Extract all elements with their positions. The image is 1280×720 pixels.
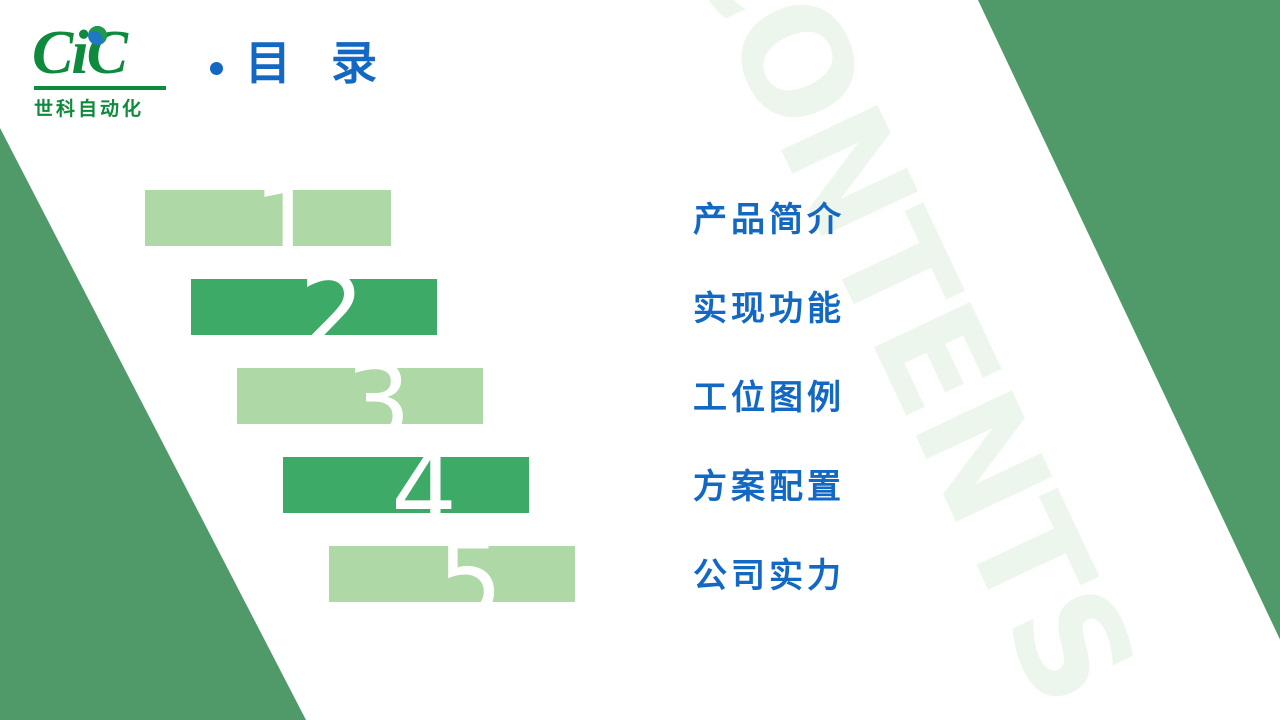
toc-row[interactable]: 3工位图例 — [0, 346, 1280, 446]
toc-row[interactable]: 4方案配置 — [0, 435, 1280, 535]
toc-label[interactable]: 实现功能 — [605, 281, 845, 330]
slide-canvas: CONTENTS CONTENTS CiC 世科自动化 目 录 1产品简介2实现… — [0, 0, 1280, 720]
toc-number-bar: 2 — [191, 279, 437, 335]
toc-number-bar: 5 — [329, 546, 575, 602]
toc-row[interactable]: 1产品简介 — [0, 168, 1280, 268]
toc-label[interactable]: 公司实力 — [605, 548, 845, 597]
toc-row[interactable]: 2实现功能 — [0, 257, 1280, 357]
toc-number-bar: 3 — [237, 368, 483, 424]
toc-label[interactable]: 工位图例 — [605, 370, 845, 419]
table-of-contents: 1产品简介2实现功能3工位图例4方案配置5公司实力 — [0, 0, 1280, 720]
toc-row[interactable]: 5公司实力 — [0, 524, 1280, 624]
toc-number-bar: 4 — [283, 457, 529, 513]
toc-label[interactable]: 产品简介 — [605, 192, 845, 241]
toc-number-bar: 1 — [145, 190, 391, 246]
toc-number: 5 — [437, 530, 503, 630]
toc-label[interactable]: 方案配置 — [605, 459, 845, 508]
